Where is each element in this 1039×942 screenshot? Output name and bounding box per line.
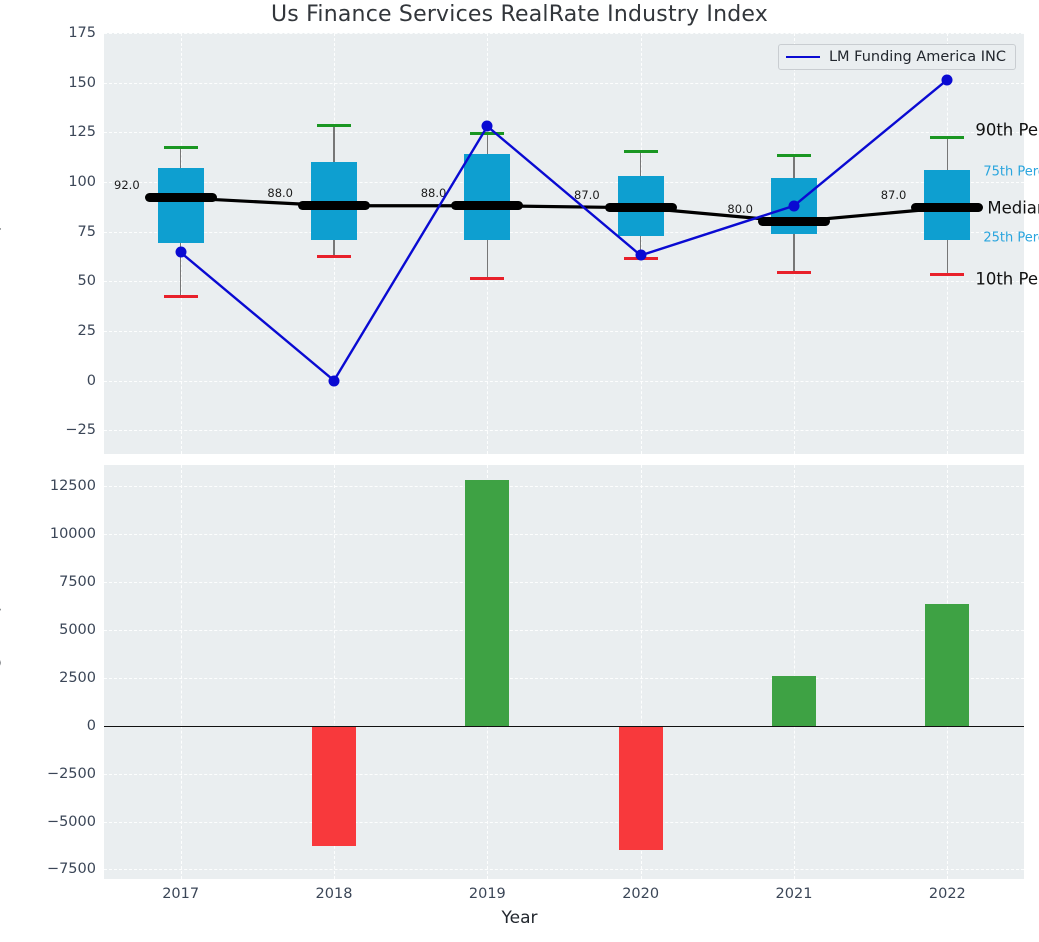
gridline [104,869,1024,870]
y-axis-tick-label: −25 [18,422,96,438]
annotation-25th-percentile: 25th Percentile [983,230,1039,245]
y-axis-tick-label: 5000 [18,622,96,638]
bar [619,726,663,851]
annotation-75th-percentile: 75th Percentile [983,165,1039,180]
y-axis-tick-label: 10000 [18,526,96,542]
boxplot-panel: 92.088.088.087.080.087.0 LM Funding Amer… [104,33,1024,454]
legend-label: LM Funding America INC [829,49,1006,65]
boxplot-y-axis-title: Economic Capital Ratio [0,145,2,341]
series-line-lm-funding [104,33,1024,454]
y-axis-tick-label: 125 [18,124,96,140]
y-axis-tick-label: 150 [18,75,96,91]
series-data-point [482,121,493,132]
gridline [104,534,1024,535]
annotation-median: Median [987,198,1039,217]
gridline [104,486,1024,487]
series-data-point [635,250,646,261]
x-axis-tick-label: 2017 [162,886,199,902]
y-axis-tick-label: 75 [18,224,96,240]
y-axis-tick-label: 175 [18,25,96,41]
x-axis-tick-label: 2018 [316,886,353,902]
y-axis-tick-label: 50 [18,273,96,289]
bar [772,676,816,726]
series-data-point [329,375,340,386]
gridline [104,822,1024,823]
zero-baseline [104,726,1024,727]
bar [312,726,356,847]
y-axis-tick-label: −2500 [18,766,96,782]
annotation-90th-percentile: 90th Percentile [975,121,1039,140]
chart-root: Us Finance Services RealRate Industry In… [0,0,1039,942]
bar [465,480,509,725]
y-axis-tick-label: 12500 [18,478,96,494]
barchart-panel [104,465,1024,879]
gridline [104,630,1024,631]
y-axis-tick-label: 2500 [18,670,96,686]
y-axis-tick-label: −5000 [18,814,96,830]
gridline-vertical [794,465,795,879]
gridline [104,678,1024,679]
y-axis-tick-label: −7500 [18,861,96,877]
y-axis-tick-label: 0 [18,718,96,734]
legend-line-swatch [786,56,820,58]
series-data-point [175,247,186,258]
x-axis-tick-label: 2022 [929,886,966,902]
y-axis-tick-label: 0 [18,373,96,389]
y-axis-tick-label: 7500 [18,574,96,590]
x-axis-tick-label: 2020 [622,886,659,902]
legend[interactable]: LM Funding America INC [778,44,1016,70]
annotation-10th-percentile: 10th Percentile [975,270,1039,289]
gridline [104,774,1024,775]
y-axis-tick-label: 100 [18,174,96,190]
bar [925,604,969,726]
x-axis-tick-label: 2019 [469,886,506,902]
series-data-point [942,74,953,85]
gridline-vertical [181,465,182,879]
gridline [104,582,1024,583]
series-data-point [789,200,800,211]
y-axis-tick-label: 25 [18,323,96,339]
barchart-y-axis-title: Absolute Change (%-points) [0,553,2,791]
page-title: Us Finance Services RealRate Industry In… [0,2,1039,27]
x-axis-title: Year [0,908,1039,928]
x-axis-tick-label: 2021 [776,886,813,902]
